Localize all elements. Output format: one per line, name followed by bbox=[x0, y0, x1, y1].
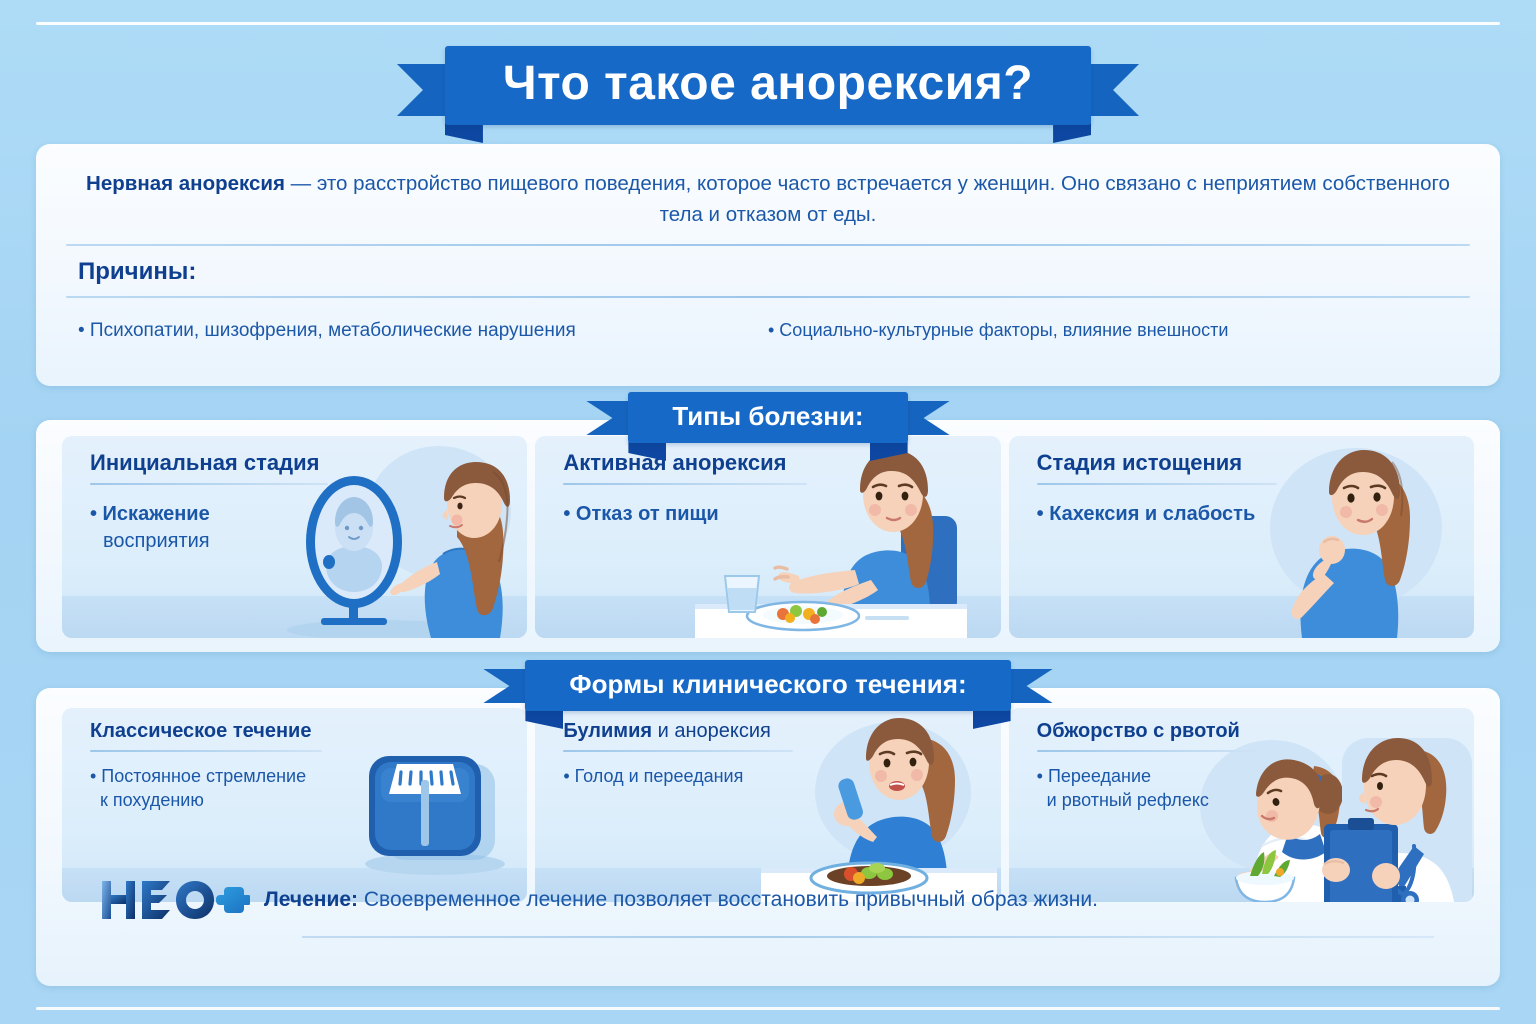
form-heading: Обжорство с рвотой bbox=[1009, 708, 1474, 743]
form-heading: Булимия и анорексия bbox=[535, 708, 1000, 743]
type-bullet: • Искажение восприятия bbox=[62, 485, 351, 555]
top-divider bbox=[36, 22, 1500, 25]
bullet-strong: • Переедание bbox=[1037, 766, 1151, 786]
ribbon-tail-left bbox=[483, 669, 531, 703]
intro-panel: Нервная анорексия — это расстройство пищ… bbox=[36, 144, 1500, 386]
intro-paragraph: Нервная анорексия — это расстройство пищ… bbox=[36, 144, 1500, 230]
cause-item-1: • Психопатии, шизофрения, метаболические… bbox=[78, 320, 768, 342]
bullet-strong: • Отказ от пищи bbox=[563, 503, 718, 525]
type-card-initial-stage: Инициальная стадия • Искажение восприяти… bbox=[62, 436, 527, 638]
ribbon-tail-right bbox=[1083, 64, 1139, 116]
footer: Лечение: Своевременное лечение позволяет… bbox=[72, 852, 1464, 948]
treatment-label: Лечение: bbox=[264, 888, 358, 911]
type-card-exhaustion-stage: Стадия истощения • Кахексия и слабость bbox=[1009, 436, 1474, 638]
bullet-strong: • Постоянное стремление bbox=[90, 766, 306, 786]
forms-banner: Формы клинического течения: bbox=[0, 660, 1536, 711]
bullet-rest: восприятия bbox=[90, 530, 210, 552]
bullet-rest: и рвотный рефлекс bbox=[1037, 790, 1209, 810]
ribbon-tail-right bbox=[1005, 669, 1053, 703]
form-heading-light: и анорексия bbox=[652, 720, 771, 742]
types-section-title: Типы болезни: bbox=[628, 392, 907, 443]
bottom-divider bbox=[36, 1007, 1500, 1010]
bullet-strong: • Голод и переедания bbox=[563, 766, 743, 786]
neo-plus-logo bbox=[100, 877, 250, 923]
ribbon-fold-right bbox=[1053, 123, 1091, 143]
type-bullet: • Кахексия и слабость bbox=[1009, 485, 1335, 528]
types-panel: Инициальная стадия • Искажение восприяти… bbox=[36, 420, 1500, 652]
types-columns: Инициальная стадия • Искажение восприяти… bbox=[58, 436, 1478, 638]
ribbon-tail-left bbox=[586, 401, 634, 435]
ribbon-tail-right bbox=[902, 401, 950, 435]
form-heading-text: Булимия bbox=[563, 720, 652, 742]
form-heading-text: Обжорство с рвотой bbox=[1037, 720, 1240, 742]
forms-section-title: Формы клинического течения: bbox=[525, 660, 1010, 711]
treatment-line: Лечение: Своевременное лечение позволяет… bbox=[264, 888, 1098, 912]
ribbon-fold-left bbox=[445, 123, 483, 143]
form-bullet: • Голод и переедания bbox=[535, 752, 824, 788]
treatment-text: Своевременное лечение позволяет восстано… bbox=[358, 888, 1098, 911]
page-title: Что такое анорексия? bbox=[445, 46, 1091, 125]
bullet-rest: к похудению bbox=[90, 790, 204, 810]
footer-divider bbox=[302, 936, 1434, 938]
bullet-strong: • Кахексия и слабость bbox=[1037, 503, 1256, 525]
title-banner: Что такое анорексия? bbox=[0, 46, 1536, 125]
form-bullet: • Переедание и рвотный рефлекс bbox=[1009, 752, 1298, 813]
types-banner: Типы болезни: bbox=[0, 392, 1536, 443]
intro-body-text: это расстройство пищевого поведения, кот… bbox=[317, 172, 1450, 226]
form-heading: Классическое течение bbox=[62, 708, 527, 743]
form-bullet: • Постоянное стремление к похудению bbox=[62, 752, 351, 813]
form-heading-text: Классическое течение bbox=[90, 720, 311, 742]
card-floor bbox=[62, 596, 527, 638]
cause-item-2: • Социально-культурные факторы, влияние … bbox=[768, 320, 1458, 342]
bullet-strong: • Искажение bbox=[90, 503, 210, 525]
causes-list: • Психопатии, шизофрения, метаболические… bbox=[36, 298, 1500, 342]
causes-heading: Причины: bbox=[36, 246, 1500, 286]
intro-dash: — bbox=[285, 172, 317, 195]
card-floor bbox=[1009, 596, 1474, 638]
type-bullet: • Отказ от пищи bbox=[535, 485, 824, 528]
type-card-active-anorexia: Активная анорексия • Отказ от пищи bbox=[535, 436, 1000, 638]
card-floor bbox=[535, 596, 1000, 638]
intro-lead-term: Нервная анорексия bbox=[86, 172, 285, 195]
forms-panel: Классическое течение • Постоянное стремл… bbox=[36, 688, 1500, 986]
